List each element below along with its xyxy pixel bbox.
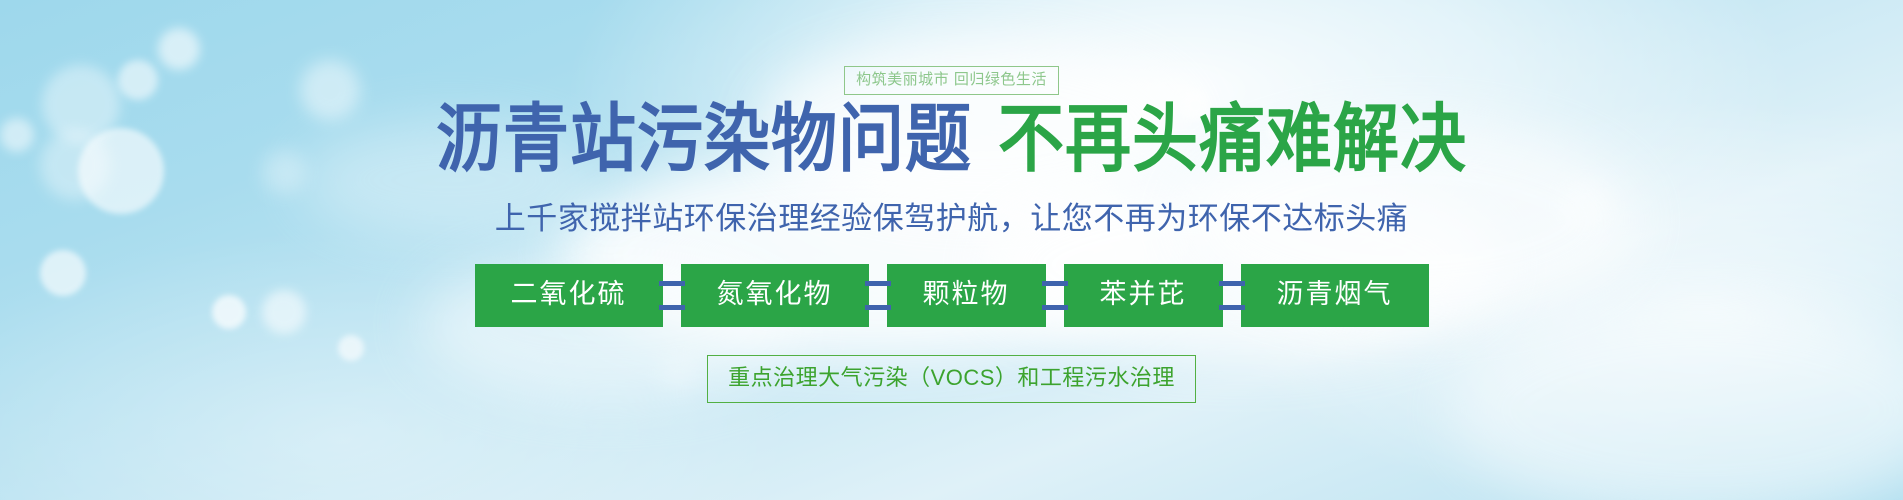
separator-dash-icon [659,281,685,286]
pollutant-tag-row: 二氧化硫 氮氧化物 颗粒物 苯并芘 沥青烟气 [475,264,1429,327]
tag-separator [1046,264,1064,327]
headline-accent: 不再头痛难解决 [998,102,1467,177]
tag-item[interactable]: 二氧化硫 [475,264,663,327]
headline-primary: 沥青站污染物问题 [436,102,972,177]
separator-dash-icon [1042,281,1068,286]
separator-dash-icon [865,305,891,310]
tag-separator [663,264,681,327]
eyebrow-tagline: 构筑美丽城市 回归绿色生活 [844,66,1059,95]
separator-dash-icon [1042,305,1068,310]
footnote-banner: 重点治理大气污染（VOCS）和工程污水治理 [707,355,1196,403]
tag-separator [869,264,887,327]
separator-dash-icon [1219,305,1245,310]
separator-dash-icon [659,305,685,310]
hero-banner: 构筑美丽城市 回归绿色生活 沥青站污染物问题 不再头痛难解决 上千家搅拌站环保治… [0,0,1903,500]
tag-item[interactable]: 氮氧化物 [681,264,869,327]
tag-item[interactable]: 颗粒物 [887,264,1046,327]
page-title: 沥青站污染物问题 不再头痛难解决 [436,111,1467,177]
separator-dash-icon [865,281,891,286]
separator-dash-icon [1219,281,1245,286]
tag-item[interactable]: 苯并芘 [1064,264,1223,327]
subtitle: 上千家搅拌站环保治理经验保驾护航，让您不再为环保不达标头痛 [495,203,1409,234]
banner-content: 构筑美丽城市 回归绿色生活 沥青站污染物问题 不再头痛难解决 上千家搅拌站环保治… [0,0,1903,500]
tag-separator [1223,264,1241,327]
tag-item[interactable]: 沥青烟气 [1241,264,1429,327]
